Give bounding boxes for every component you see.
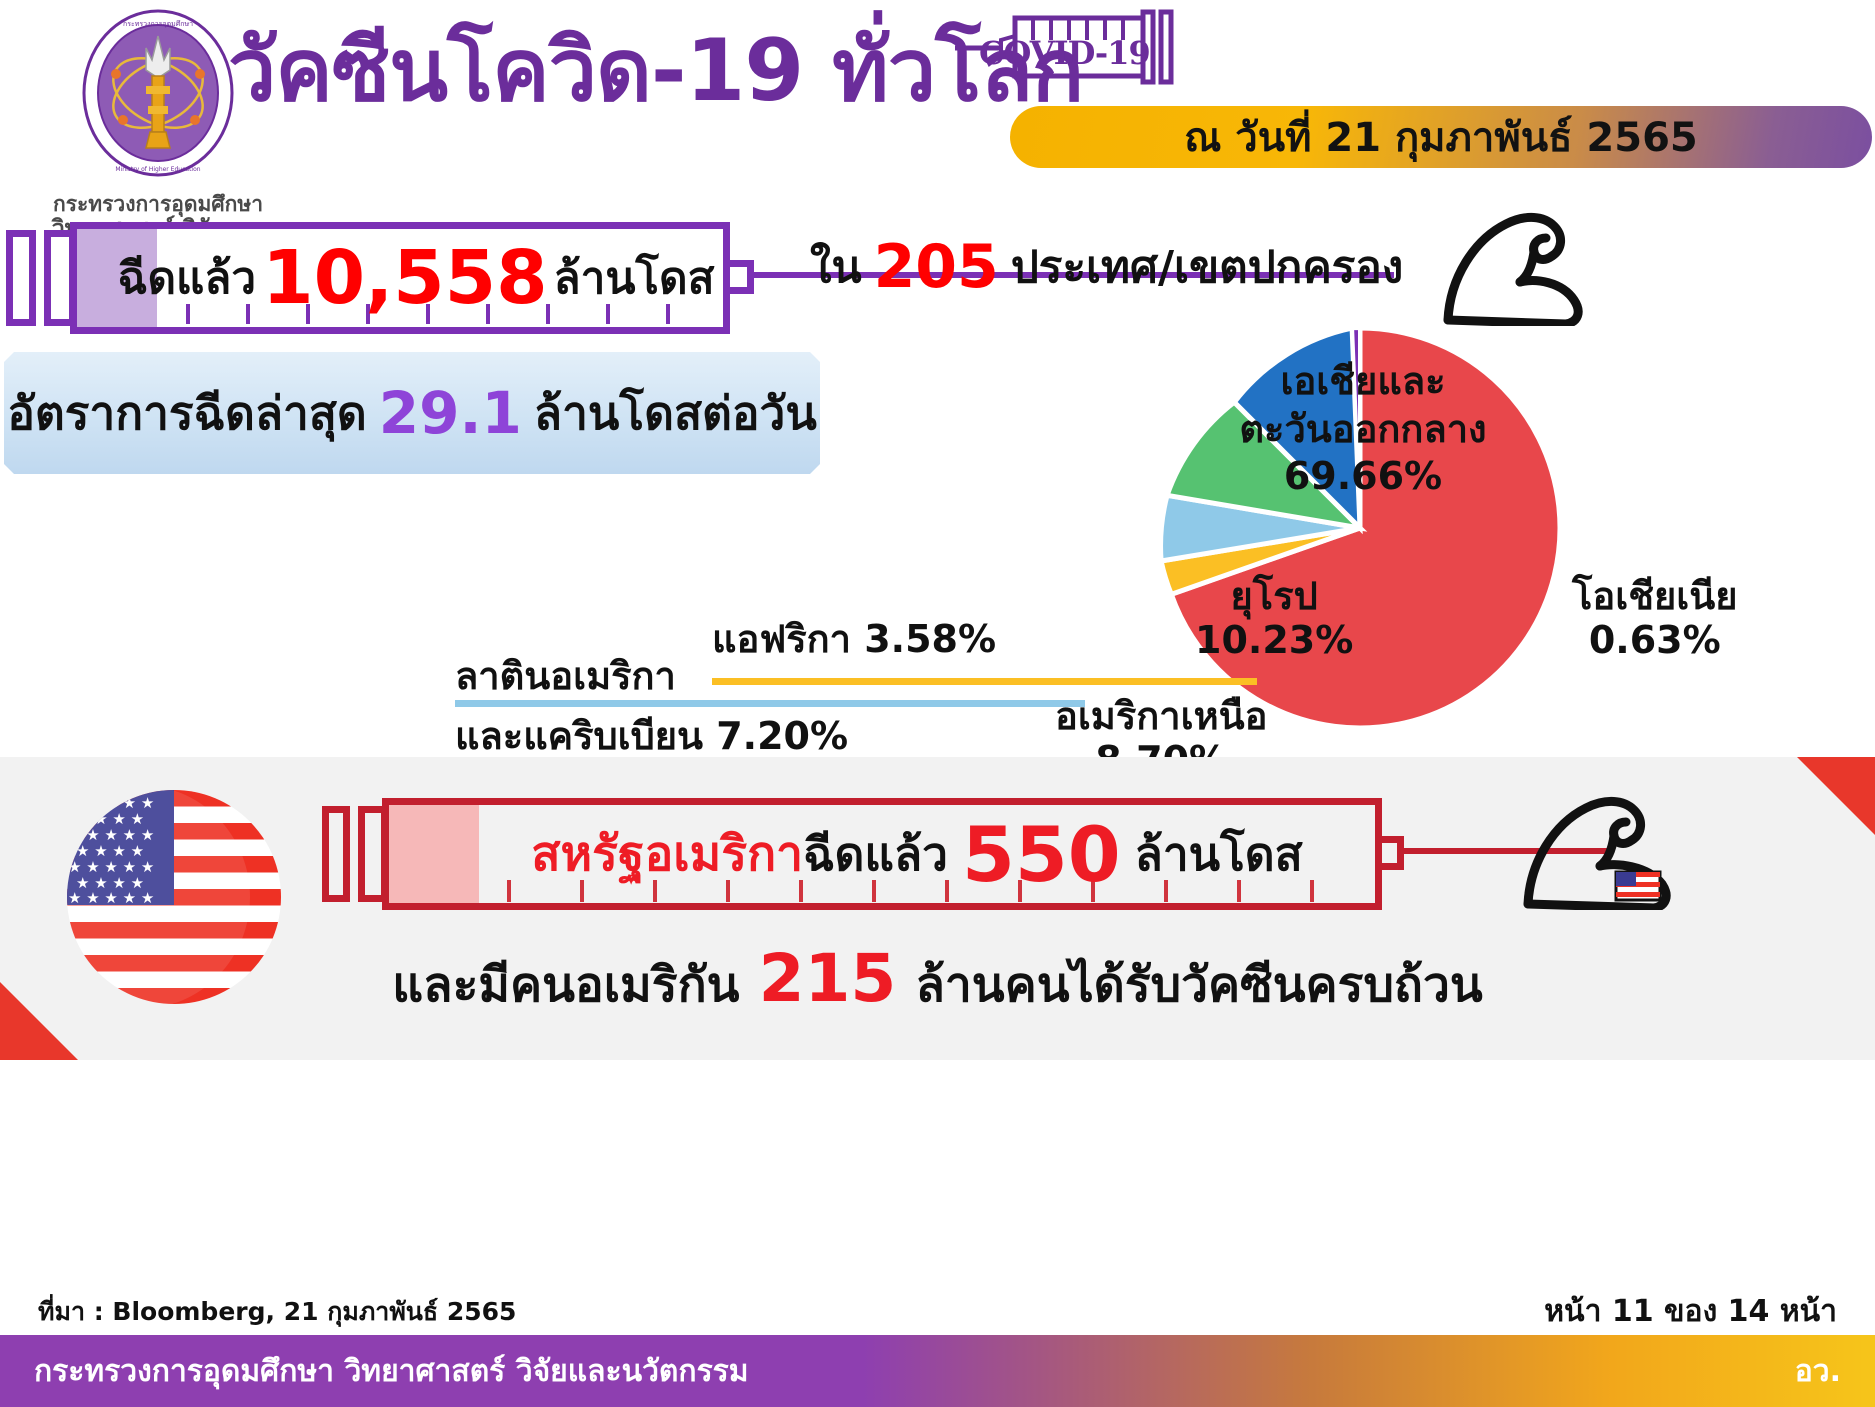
region-share-pie-chart: เอเชียและ ตะวันออกกลาง 69.66% — [930, 318, 1570, 738]
countries-prefix: ใน — [810, 232, 862, 302]
usa-syringe-nozzle — [1382, 836, 1404, 870]
usa-line2-prefix: และมีคนอเมริกัน — [392, 957, 739, 1013]
date-label: ณ วันที่ 21 กุมภาพันธ์ 2565 — [1184, 105, 1698, 169]
rate-suffix: ล้านโดสต่อวัน — [534, 377, 817, 450]
pie-label-asia-line2: ตะวันออกกลาง — [1198, 406, 1528, 454]
usa-line2-value: 215 — [759, 940, 897, 1017]
daily-rate-bar: อัตราการฉีดล่าสุด 29.1 ล้านโดสต่อวัน — [4, 352, 820, 474]
pie-label-north-america-name: อเมริกาเหนือ — [1055, 695, 1267, 739]
date-badge: ณ วันที่ 21 กุมภาพันธ์ 2565 — [1010, 106, 1872, 168]
footer-abbrev: อว. — [1795, 1348, 1841, 1395]
ministry-name-th-1: กระทรวงการอุดมศึกษา — [38, 192, 278, 216]
usa-fully-vaccinated-line: และมีคนอเมริกัน 215 ล้านคนได้รับวัคซีนคร… — [0, 940, 1875, 1023]
usa-doses-text: สหรัฐอเมริกา ฉีดแล้ว 550 ล้านโดส — [462, 806, 1372, 902]
rate-value: 29.1 — [379, 379, 522, 447]
pie-label-asia: เอเชียและ ตะวันออกกลาง 69.66% — [1198, 358, 1528, 501]
usa-doses-syringe: สหรัฐอเมริกา ฉีดแล้ว 550 ล้านโดส — [322, 798, 1412, 910]
source-citation: ที่มา : Bloomberg, 21 กุมภาพันธ์ 2565 — [38, 1292, 516, 1332]
usa-doses-prefix: ฉีดแล้ว — [803, 818, 948, 891]
global-doses-prefix: ฉีดแล้ว — [118, 243, 257, 313]
page-number: หน้า 11 ของ 14 หน้า — [1544, 1288, 1837, 1335]
pie-label-asia-pct: 69.66% — [1198, 453, 1528, 501]
rate-prefix: อัตราการฉีดล่าสุด — [7, 377, 367, 450]
pie-label-asia-line1: เอเชียและ — [1198, 358, 1528, 406]
svg-text:Ministry of Higher Education: Ministry of Higher Education — [115, 166, 200, 173]
countries-count: ใน 205 ประเทศ/เขตปกครอง — [810, 232, 1403, 302]
footer-ministry-name: กระทรวงการอุดมศึกษา วิทยาศาสตร์ วิจัยและ… — [34, 1348, 749, 1395]
pie-label-europe-pct: 10.23% — [1195, 619, 1353, 663]
flexed-arm-icon — [1440, 196, 1590, 326]
flexed-arm-usa-icon — [1520, 780, 1695, 910]
corner-accent-top-right — [1797, 757, 1875, 835]
svg-text:กระทรวงการอุดมศึกษา: กระทรวงการอุดมศึกษา — [123, 19, 193, 28]
footer-bar: กระทรวงการอุดมศึกษา วิทยาศาสตร์ วิจัยและ… — [0, 1335, 1875, 1407]
usa-doses-suffix: ล้านโดส — [1135, 818, 1303, 891]
pie-label-oceania: โอเชียเนีย 0.63% — [1572, 575, 1738, 662]
pie-label-latin-line2: และแคริบเบียน 7.20% — [455, 715, 848, 759]
ministry-seal-icon: กระทรวงการอุดมศึกษา Ministry of Higher E… — [78, 8, 238, 188]
pie-label-oceania-name: โอเชียเนีย — [1572, 575, 1738, 619]
pie-label-oceania-pct: 0.63% — [1572, 619, 1738, 663]
countries-suffix: ประเทศ/เขตปกครอง — [1011, 232, 1403, 302]
global-doses-suffix: ล้านโดส — [554, 243, 715, 313]
covid-badge-label: COVID-19 — [979, 34, 1150, 72]
pie-label-europe-name: ยุโรป — [1195, 575, 1353, 619]
usa-line2-suffix: ล้านคนได้รับวัคซีนครบถ้วน — [915, 957, 1482, 1013]
syringe-plunger-end — [6, 230, 36, 326]
usa-country-label: สหรัฐอเมริกา — [531, 816, 803, 892]
global-doses-text: ฉีดแล้ว 10,558 ล้านโดส — [106, 234, 726, 322]
global-doses-value: 10,558 — [262, 235, 548, 321]
pie-leader-line-latin-america — [455, 700, 1085, 707]
global-doses-syringe: ฉีดแล้ว 10,558 ล้านโดส — [6, 222, 776, 332]
countries-value: 205 — [874, 232, 999, 302]
syringe-nozzle — [730, 260, 754, 294]
usa-flag-patch-icon — [1616, 872, 1660, 900]
pie-label-latin-line1: ลาตินอเมริกา — [455, 655, 848, 699]
usa-syringe-plunger-end — [322, 806, 350, 902]
infographic-page: กระทรวงการอุดมศึกษา Ministry of Higher E… — [0, 0, 1875, 1407]
pie-label-europe: ยุโรป 10.23% — [1195, 575, 1353, 662]
covid-syringe-badge: COVID-19 — [955, 6, 1185, 86]
usa-doses-value: 550 — [962, 810, 1121, 899]
